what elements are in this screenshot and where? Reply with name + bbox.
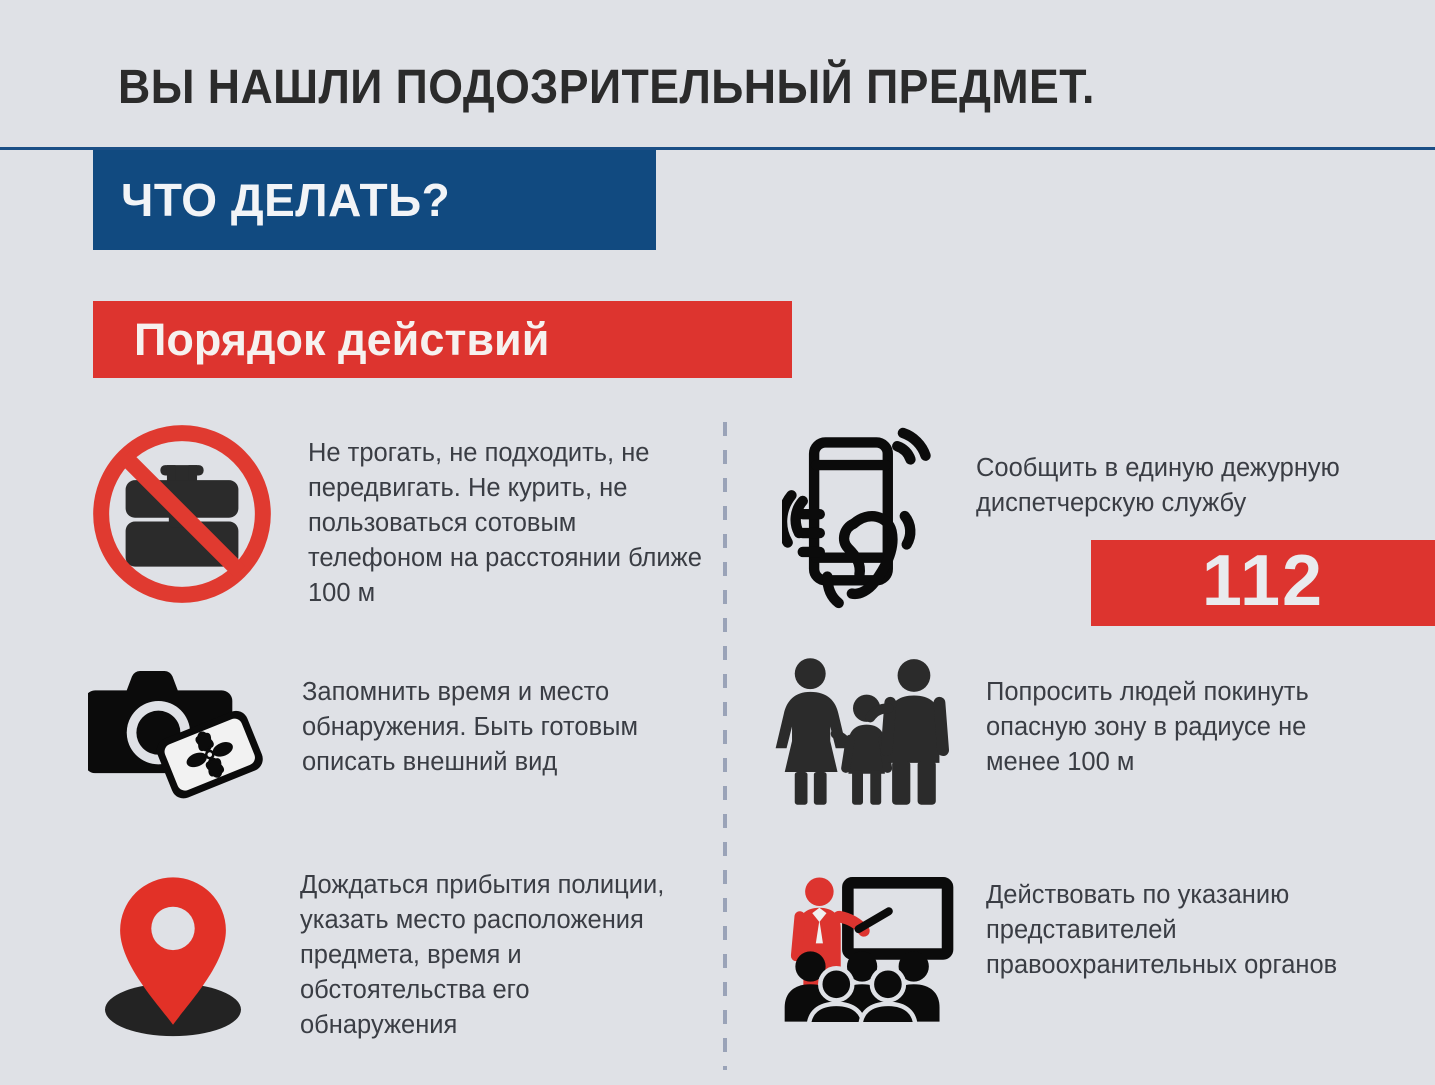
list-item: Дождаться прибытия полиции, указать мест… — [88, 860, 708, 1045]
hand-holding-ringing-phone-icon — [782, 425, 952, 610]
no-briefcase-icon — [88, 420, 276, 608]
list-item-text: Запомнить время и место обнаружения. Быт… — [302, 655, 718, 780]
items-grid: Не трогать, не подходить, не передвигать… — [0, 405, 1435, 1085]
blue-banner-label: ЧТО ДЕЛАТЬ? — [93, 173, 450, 227]
map-pin-icon — [88, 860, 258, 1045]
emergency-number-plate: 112 — [1091, 540, 1435, 626]
red-banner: Порядок действий — [93, 301, 792, 378]
camera-photo-icon — [88, 655, 264, 805]
list-item: Попросить людей покинуть опасную зону в … — [772, 655, 1432, 807]
list-item-text: Дождаться прибытия полиции, указать мест… — [300, 860, 680, 1043]
red-banner-label: Порядок действий — [93, 314, 549, 366]
family-group-icon — [772, 655, 954, 807]
list-item-text: Попросить людей покинуть опасную зону в … — [986, 655, 1386, 780]
infographic-poster: ВЫ НАШЛИ ПОДОЗРИТЕЛЬНЫЙ ПРЕДМЕТ. ЧТО ДЕЛ… — [0, 0, 1435, 1085]
page-title: ВЫ НАШЛИ ПОДОЗРИТЕЛЬНЫЙ ПРЕДМЕТ. — [118, 60, 1095, 115]
presenter-briefing-icon — [782, 870, 960, 1022]
list-item: Действовать по указанию представителей п… — [782, 870, 1432, 1022]
emergency-number-label: 112 — [1202, 545, 1324, 617]
title-area: ВЫ НАШЛИ ПОДОЗРИТЕЛЬНЫЙ ПРЕДМЕТ. — [0, 0, 1435, 148]
blue-banner: ЧТО ДЕЛАТЬ? — [93, 150, 656, 250]
list-item-text: Сообщить в единую дежурную диспетчерскую… — [976, 425, 1376, 521]
list-item: Запомнить время и место обнаружения. Быт… — [88, 655, 718, 805]
list-item-text: Не трогать, не подходить, не передвигать… — [308, 420, 708, 611]
list-item-text: Действовать по указанию представителей п… — [986, 870, 1386, 983]
list-item: Не трогать, не подходить, не передвигать… — [88, 420, 708, 611]
